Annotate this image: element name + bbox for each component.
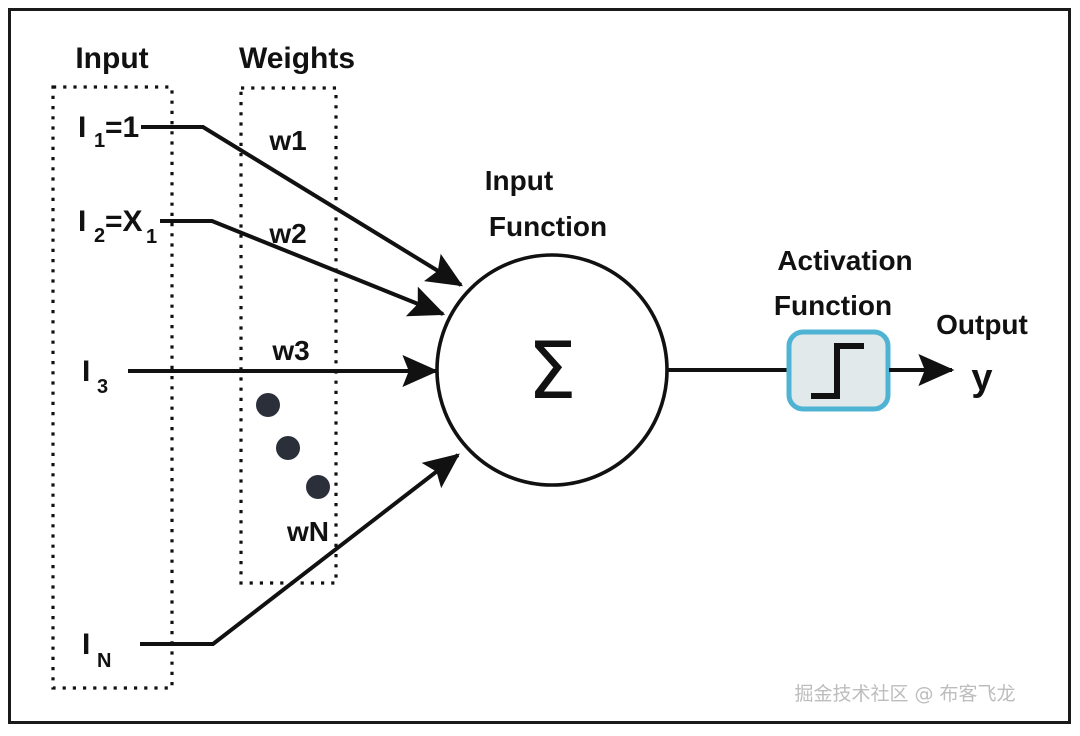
output-label: Output — [936, 309, 1028, 340]
weight-label-wN: wN — [286, 516, 329, 547]
input-function-label-line1: Input — [485, 165, 553, 196]
input-term-4-base: I — [82, 628, 90, 661]
input-term-1-subscript: 1 — [94, 130, 105, 152]
input-term-2-base: I — [78, 205, 86, 238]
weight-label-w1: w1 — [268, 125, 306, 156]
input-term-3-subscript: 3 — [97, 376, 108, 398]
activation-function-label-line2: Function — [774, 290, 892, 321]
input-term-4-subscript: N — [97, 650, 111, 672]
output-variable: y — [971, 357, 992, 399]
weight-label-w3: w3 — [271, 335, 309, 366]
input-term-2-subscript: 2 — [94, 225, 105, 247]
diagram-canvas: Input Weights I 1 =1 I 2 =X 1 I 3 I N w1… — [0, 0, 1080, 736]
input-term-3-base: I — [82, 355, 90, 388]
summation-symbol: Σ — [527, 327, 576, 417]
ellipsis-dot-3 — [306, 475, 330, 499]
neuron-diagram-figure: Input Weights I 1 =1 I 2 =X 1 I 3 I N w1… — [0, 0, 1080, 736]
activation-function-label-line1: Activation — [777, 245, 912, 276]
input-function-label-line2: Function — [489, 211, 607, 242]
input-term-1-base: I — [78, 111, 86, 144]
input-term-1-suffix: =1 — [105, 111, 139, 144]
ellipsis-dot-1 — [256, 393, 280, 417]
watermark-text: 掘金技术社区 @ 布客飞龙 — [794, 683, 1015, 705]
weights-section-header: Weights — [239, 42, 355, 75]
ellipsis-dot-2 — [276, 436, 300, 460]
input-term-2-suffix-subscript: 1 — [146, 226, 157, 248]
input-term-2-suffix: =X — [105, 205, 143, 238]
input-section-header: Input — [75, 42, 148, 75]
